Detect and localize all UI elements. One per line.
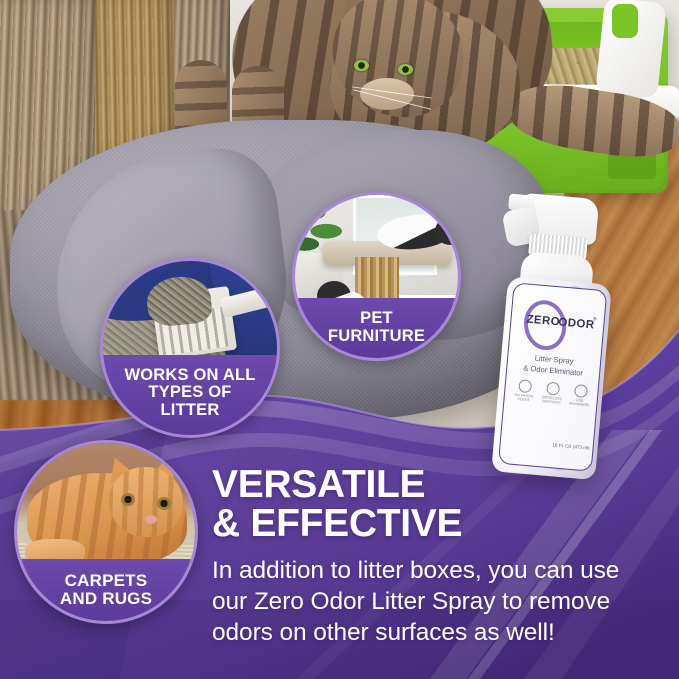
caption-line: PET <box>328 310 425 328</box>
caption-line: WORKS ON ALL <box>124 367 255 385</box>
home-icon <box>573 384 587 398</box>
caption-line: CARPETS <box>60 572 152 590</box>
callout-caption-litter: WORKS ON ALL TYPES OF LITTER <box>103 355 277 435</box>
caption-line: FURNITURE <box>328 328 425 346</box>
callout-caption-pet-furniture: PET FURNITURE <box>295 298 458 358</box>
benefit-icon-use-anywhere: USEANYWHERE <box>568 384 592 409</box>
benefit-icon-no-harsh-scent: NO HARSHSCENT <box>512 379 536 404</box>
cat-lying-head <box>435 217 458 245</box>
marketing-copy-block: VERSATILE & EFFECTIVE In addition to lit… <box>212 466 652 649</box>
product-promo-image: ZERO ODOR ® Litter Spray & Odor Eliminat… <box>0 0 679 679</box>
caption-line: LITTER <box>124 402 255 420</box>
caption-line: AND RUGS <box>60 590 152 608</box>
callout-caption-carpets: CARPETS AND RUGS <box>17 559 195 621</box>
callout-works-on-all-types-of-litter: WORKS ON ALL TYPES OF LITTER <box>100 258 280 438</box>
droplet-icon <box>518 379 532 393</box>
x-circle-icon <box>546 382 560 396</box>
body-copy: In addition to litter boxes, you can use… <box>212 555 652 648</box>
zero-odor-logo: ZERO ODOR ® <box>514 297 600 350</box>
orange-kitten-nose <box>145 515 157 524</box>
orange-kitten-eye-right <box>157 497 171 510</box>
spray-bottle: ZERO ODOR ® Litter Spray & Odor Eliminat… <box>477 191 631 486</box>
registered-trademark-mark: ® <box>593 316 597 322</box>
headline: VERSATILE & EFFECTIVE <box>212 466 652 543</box>
caption-line: TYPES OF <box>124 384 255 402</box>
orange-kitten-head <box>109 467 183 537</box>
orange-kitten-eye-left <box>121 493 135 506</box>
callout-pet-furniture: PET FURNITURE <box>292 192 461 361</box>
headline-line-2: & EFFECTIVE <box>212 505 652 544</box>
benefit-icon-nontoxic: ODORLESSNONTOXIC <box>540 381 564 406</box>
headline-line-1: VERSATILE <box>212 463 425 506</box>
callout-carpets-and-rugs: CARPETS AND RUGS <box>14 440 198 624</box>
